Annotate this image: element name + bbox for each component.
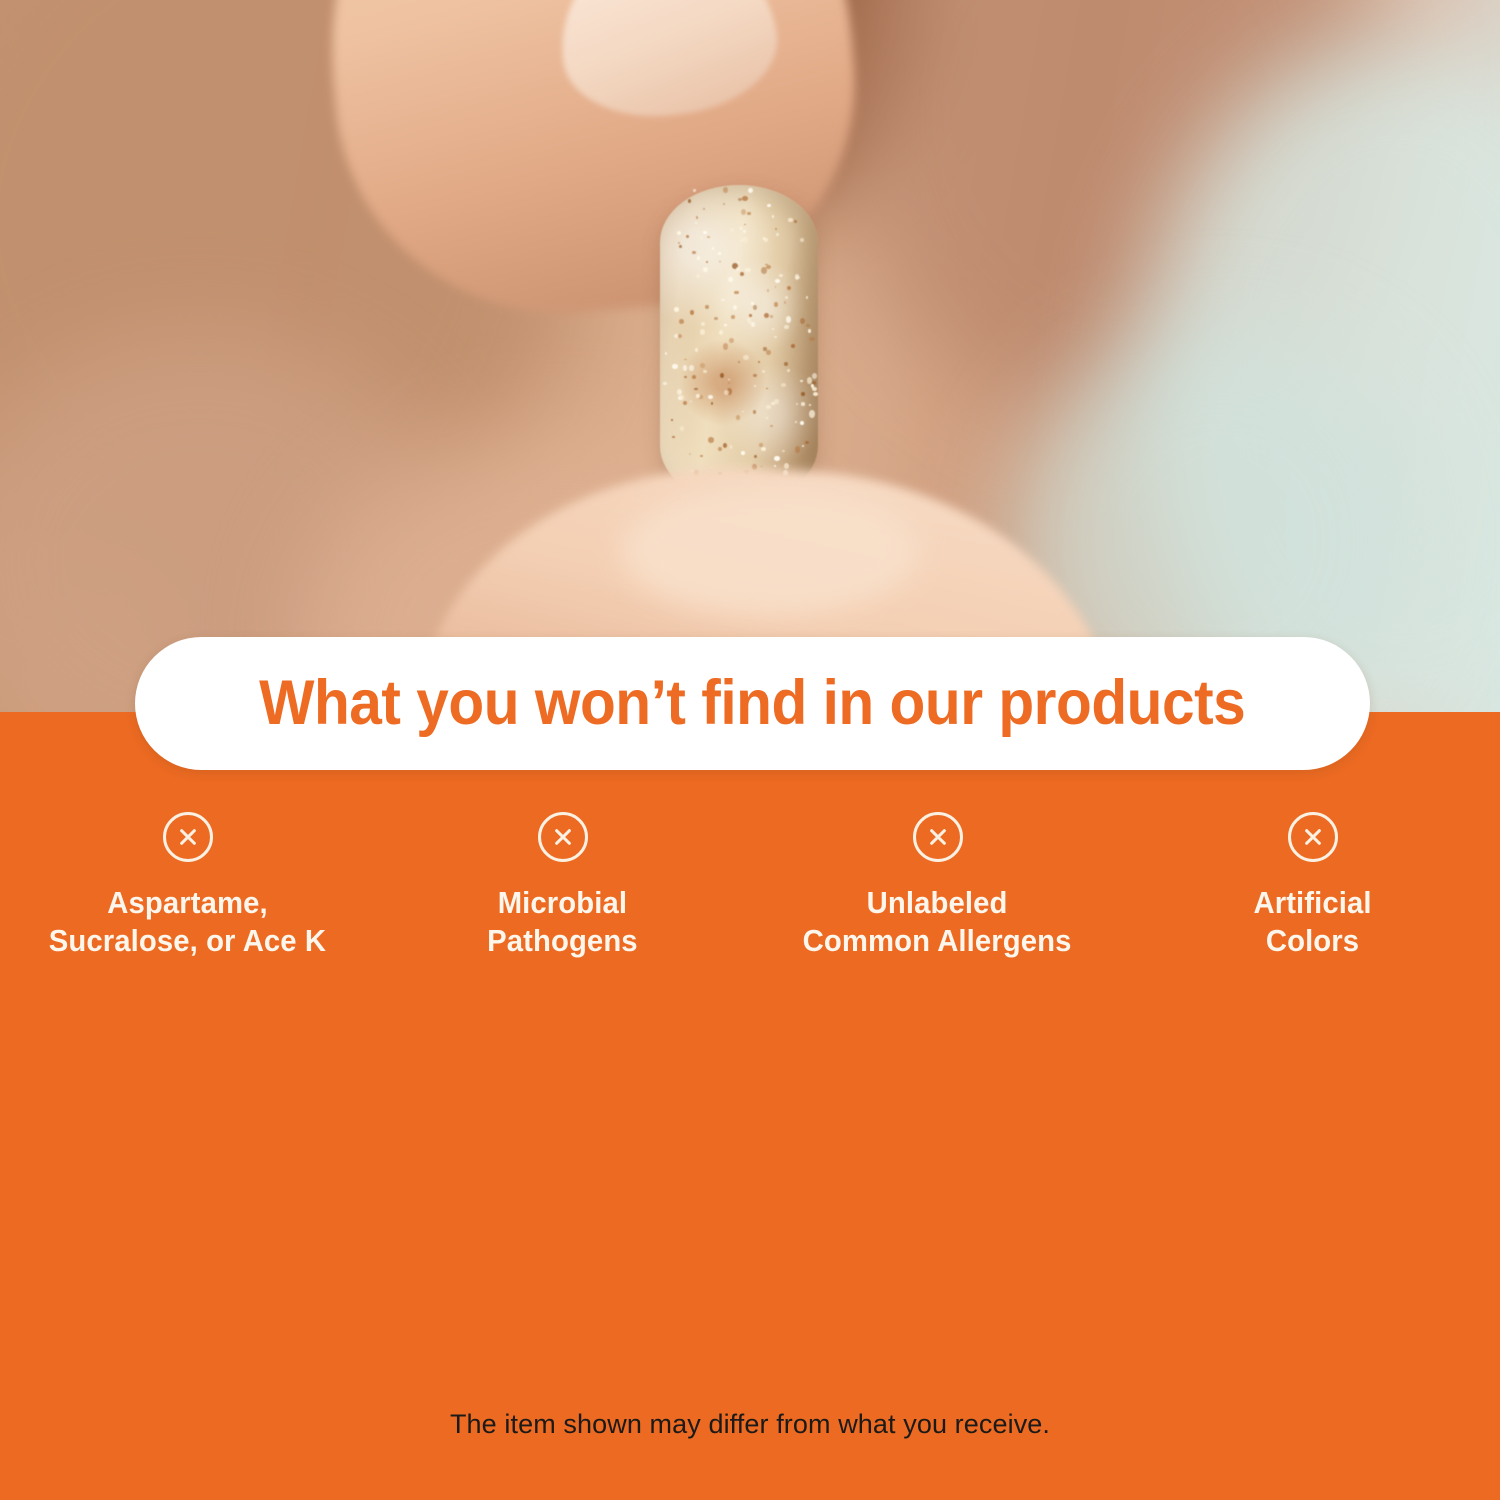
- tablet-speck: [684, 376, 687, 378]
- tablet-speck: [714, 317, 718, 321]
- tablet-speck: [727, 388, 732, 395]
- tablet-speck: [800, 421, 804, 425]
- tablet-speck: [743, 230, 746, 233]
- finger-highlight: [620, 486, 920, 616]
- tablet-speck: [771, 402, 774, 405]
- tablet-speck: [795, 274, 799, 280]
- tablet-speck: [740, 272, 744, 276]
- disclaimer-text: The item shown may differ from what you …: [0, 1409, 1500, 1440]
- tablet-speck: [786, 316, 791, 323]
- tablet-speck: [782, 450, 785, 453]
- tablet-speck: [787, 369, 790, 372]
- tablet-speck: [766, 265, 771, 269]
- tablet-speck: [785, 296, 787, 299]
- tablet-speck: [674, 334, 680, 339]
- excluded-item: ArtificialColors: [1125, 812, 1500, 994]
- tablet-speck: [800, 238, 804, 242]
- excluded-item-line: Sucralose, or Ace K: [49, 924, 326, 958]
- tablet-speck: [766, 405, 771, 409]
- tablet-speck: [772, 328, 775, 331]
- tablet-speck: [736, 415, 740, 420]
- tablet-speck: [806, 324, 809, 327]
- tablet-speck: [728, 379, 730, 381]
- tablet-speck: [801, 402, 806, 405]
- tablet-speck: [774, 336, 777, 339]
- infographic-root: What you won’t find in our products Aspa…: [0, 0, 1500, 1500]
- tablet-speck: [701, 322, 705, 326]
- tablet-speck: [728, 382, 730, 384]
- page-title: What you won’t find in our products: [259, 672, 1245, 735]
- tablet-speck: [764, 238, 768, 242]
- tablet-speck: [736, 267, 740, 271]
- tablet-speck: [808, 329, 811, 332]
- tablet-speck: [734, 291, 738, 295]
- tablet-speck: [784, 301, 786, 303]
- tablet-speck: [759, 443, 762, 446]
- tablet-speck: [689, 453, 691, 455]
- tablet-speck: [740, 239, 743, 242]
- tablet-speck: [696, 274, 700, 278]
- tablet-speck: [718, 252, 722, 255]
- tablet-speck: [781, 383, 786, 387]
- tablet-speck: [801, 392, 804, 396]
- tablet-speck: [720, 373, 724, 378]
- tablet-speck: [747, 318, 752, 322]
- tablet-speck: [703, 370, 707, 373]
- tablet-speck: [694, 388, 698, 391]
- tablet-speck: [764, 313, 769, 318]
- headline-part1: What you: [259, 668, 535, 738]
- tablet-speck: [775, 286, 777, 288]
- tablet-speck: [683, 365, 687, 370]
- tablet-speck: [787, 286, 791, 290]
- tablet-speck: [700, 329, 705, 334]
- tablet-speck: [708, 395, 713, 399]
- tablet-speck: [684, 359, 686, 361]
- tablet-speck: [663, 382, 666, 386]
- tablet-speck: [679, 319, 684, 324]
- tablet-speck: [703, 231, 706, 233]
- tablet-speck: [774, 456, 780, 461]
- tablet-speck: [791, 344, 796, 348]
- tablet-speck: [674, 307, 679, 312]
- tablet-speck: [766, 350, 771, 355]
- tablet-speck: [688, 199, 692, 203]
- tablet-speck: [794, 220, 798, 223]
- tablet-speck: [753, 305, 757, 310]
- excluded-item-line: Artificial: [1253, 886, 1371, 920]
- tablet-speck: [728, 277, 733, 282]
- tablet-speck: [723, 343, 729, 350]
- tablet-speck: [700, 236, 703, 239]
- tablet-speck: [811, 384, 813, 386]
- tablet-speck: [770, 315, 773, 318]
- tablet-speck: [765, 264, 767, 266]
- tablet-speck: [809, 404, 811, 406]
- tablet-speck: [784, 463, 790, 469]
- tablet-speck: [697, 256, 700, 260]
- tablet-speck: [748, 188, 753, 193]
- tablet-speck: [811, 384, 814, 388]
- tablet-speck: [805, 441, 809, 445]
- excluded-ingredients-grid: Aspartame,Sucralose, or Ace KMicrobialPa…: [0, 812, 1500, 1002]
- tablet-speck: [749, 314, 751, 316]
- tablet-speck: [678, 396, 681, 400]
- tablet-speck: [762, 370, 765, 373]
- tablet-speck: [678, 242, 680, 244]
- tablet-speck: [758, 361, 760, 363]
- excluded-item-label: MicrobialPathogens: [487, 884, 638, 961]
- excluded-item: UnlabeledCommon Allergens: [750, 812, 1125, 994]
- product-photo: [0, 0, 1500, 712]
- tablet-speck: [731, 315, 735, 319]
- tablet-speck: [809, 410, 815, 417]
- excluded-item-label: Aspartame,Sucralose, or Ace K: [49, 884, 326, 961]
- tablet-speck: [692, 251, 696, 254]
- tablet-speck: [770, 425, 773, 427]
- tablet-speck: [753, 410, 756, 414]
- tablet-speck: [671, 419, 673, 421]
- tablet-speck: [812, 373, 817, 379]
- tablet-speck: [695, 222, 697, 224]
- tablet-speck: [665, 352, 668, 355]
- tablet-speck: [813, 392, 818, 397]
- excluded-item-label: UnlabeledCommon Allergens: [803, 884, 1072, 961]
- tablet-speck: [767, 204, 771, 207]
- tablet-speck: [706, 261, 708, 263]
- excluded-item: MicrobialPathogens: [375, 812, 750, 994]
- tablet-speck: [711, 402, 713, 405]
- tablet-speck: [788, 218, 792, 221]
- tablet-speck: [742, 237, 748, 243]
- tablet-speck: [743, 355, 749, 360]
- tablet-speck: [712, 247, 714, 250]
- tablet-speck: [795, 421, 797, 423]
- tablet-speck: [724, 390, 729, 395]
- headline-part2: find in our products: [686, 668, 1246, 738]
- tablet-speck: [689, 365, 694, 370]
- tablet-speck: [730, 228, 735, 232]
- tablet-speck: [742, 411, 744, 412]
- circle-x-icon: [538, 812, 588, 862]
- tablet-speck: [719, 261, 721, 263]
- tablet-speck: [766, 417, 768, 419]
- tablet-speck: [760, 466, 762, 468]
- tablet-speck: [677, 389, 683, 395]
- tablet-speck: [779, 274, 783, 278]
- tablet-speck: [753, 374, 757, 377]
- tablet-speck: [706, 464, 708, 466]
- tablet-speck: [707, 236, 710, 238]
- tablet-speck: [767, 289, 769, 292]
- tablet-speck: [807, 377, 812, 383]
- tablet-speck: [719, 330, 723, 335]
- tablet-speck: [679, 245, 682, 248]
- tablet-speck: [723, 443, 727, 448]
- tablet-speck: [812, 387, 817, 391]
- grid-row: Aspartame,Sucralose, or Ace KMicrobialPa…: [0, 812, 1500, 1002]
- tablet-speck: [748, 321, 752, 324]
- tablet-speck: [724, 324, 726, 326]
- tablet-speck: [744, 224, 746, 226]
- tablet-speck: [721, 299, 724, 302]
- tablet-speck: [742, 196, 747, 201]
- tablet-speck: [700, 363, 706, 368]
- tablet-speck: [754, 455, 757, 458]
- tablet-speck: [802, 445, 804, 447]
- tablet-speck: [761, 447, 766, 451]
- tablet-speck: [737, 261, 740, 264]
- tablet-speck: [806, 296, 808, 299]
- circle-x-icon: [1288, 812, 1338, 862]
- tablet-speck: [784, 362, 788, 366]
- tablet-speck: [766, 388, 768, 389]
- excluded-item-label: ArtificialColors: [1253, 884, 1371, 961]
- headline-emphasis: won’t: [535, 668, 686, 738]
- tablet-speck: [774, 399, 778, 404]
- tablet-speck: [795, 276, 800, 280]
- tablet-speck: [733, 305, 737, 310]
- tablet-speck: [745, 268, 750, 272]
- tablet-speck: [680, 395, 685, 400]
- tablet-speck: [718, 447, 722, 451]
- tablet-speck: [800, 380, 803, 382]
- circle-x-icon: [913, 812, 963, 862]
- excluded-item-line: Common Allergens: [803, 924, 1072, 958]
- tablet-speck: [747, 212, 750, 215]
- tablet-speck: [703, 208, 705, 210]
- tablet-speck: [672, 436, 675, 438]
- tablet-speck: [740, 227, 742, 229]
- tablet-speck: [730, 445, 733, 448]
- tablet-speck: [804, 382, 806, 383]
- tablet-speck: [683, 401, 687, 405]
- circle-x-icon: [163, 812, 213, 862]
- supplement-tablet: [660, 185, 818, 503]
- tablet-speck: [696, 394, 699, 398]
- tablet-speck: [776, 233, 780, 236]
- tablet-speck: [774, 465, 776, 467]
- tablet-speck: [795, 446, 800, 453]
- tablet-speck: [677, 231, 681, 235]
- tablet-speck: [679, 334, 682, 337]
- tablet-speck: [796, 403, 798, 405]
- tablet-speck: [751, 302, 754, 305]
- excluded-item-line: Pathogens: [487, 924, 638, 958]
- tablet-speck: [751, 322, 756, 327]
- tablet-speck: [761, 267, 767, 274]
- tablet-speck: [774, 302, 778, 307]
- tablet-speck: [754, 385, 756, 386]
- tablet-speck: [723, 203, 725, 205]
- excluded-item: Aspartame,Sucralose, or Ace K: [0, 812, 375, 994]
- tablet-speck: [705, 305, 709, 309]
- tablet-speck: [700, 455, 702, 457]
- tablet-speck: [723, 187, 728, 192]
- headline-pill: What you won’t find in our products: [135, 637, 1370, 770]
- tablet-speck: [696, 216, 698, 219]
- tablet-speck: [800, 318, 805, 324]
- tablet-speck: [703, 267, 709, 272]
- tablet-speck: [812, 381, 817, 385]
- tablet-speck: [738, 361, 740, 363]
- tablet-speck: [741, 209, 746, 215]
- tablet-speck: [729, 338, 734, 343]
- tablet-speck: [698, 395, 703, 400]
- tablet-speck: [708, 437, 713, 443]
- excluded-item-line: Microbial: [498, 886, 627, 920]
- tablet-speck: [732, 263, 738, 269]
- tablet-speck: [672, 364, 677, 369]
- tablet-speck: [741, 451, 746, 455]
- tablet-speck: [763, 347, 767, 350]
- tablet-speck: [680, 426, 684, 431]
- tablet-speck: [763, 237, 765, 240]
- tablet-speck: [678, 334, 682, 338]
- tablet-speck: [738, 198, 742, 201]
- tablet-speck: [775, 279, 781, 283]
- excluded-item-line: Colors: [1266, 924, 1359, 958]
- tablet-speck: [690, 401, 692, 402]
- excluded-item-line: Unlabeled: [867, 886, 1008, 920]
- tablet-speck: [784, 325, 788, 328]
- tablet-speck: [695, 348, 698, 352]
- tablet-speck: [775, 228, 777, 230]
- tablet-speck: [809, 337, 814, 342]
- tablet-speck: [692, 375, 696, 379]
- tablet-speck: [690, 310, 694, 315]
- excluded-item-line: Aspartame,: [107, 886, 267, 920]
- tablet-speck: [686, 235, 688, 238]
- tablet-speck: [772, 215, 774, 217]
